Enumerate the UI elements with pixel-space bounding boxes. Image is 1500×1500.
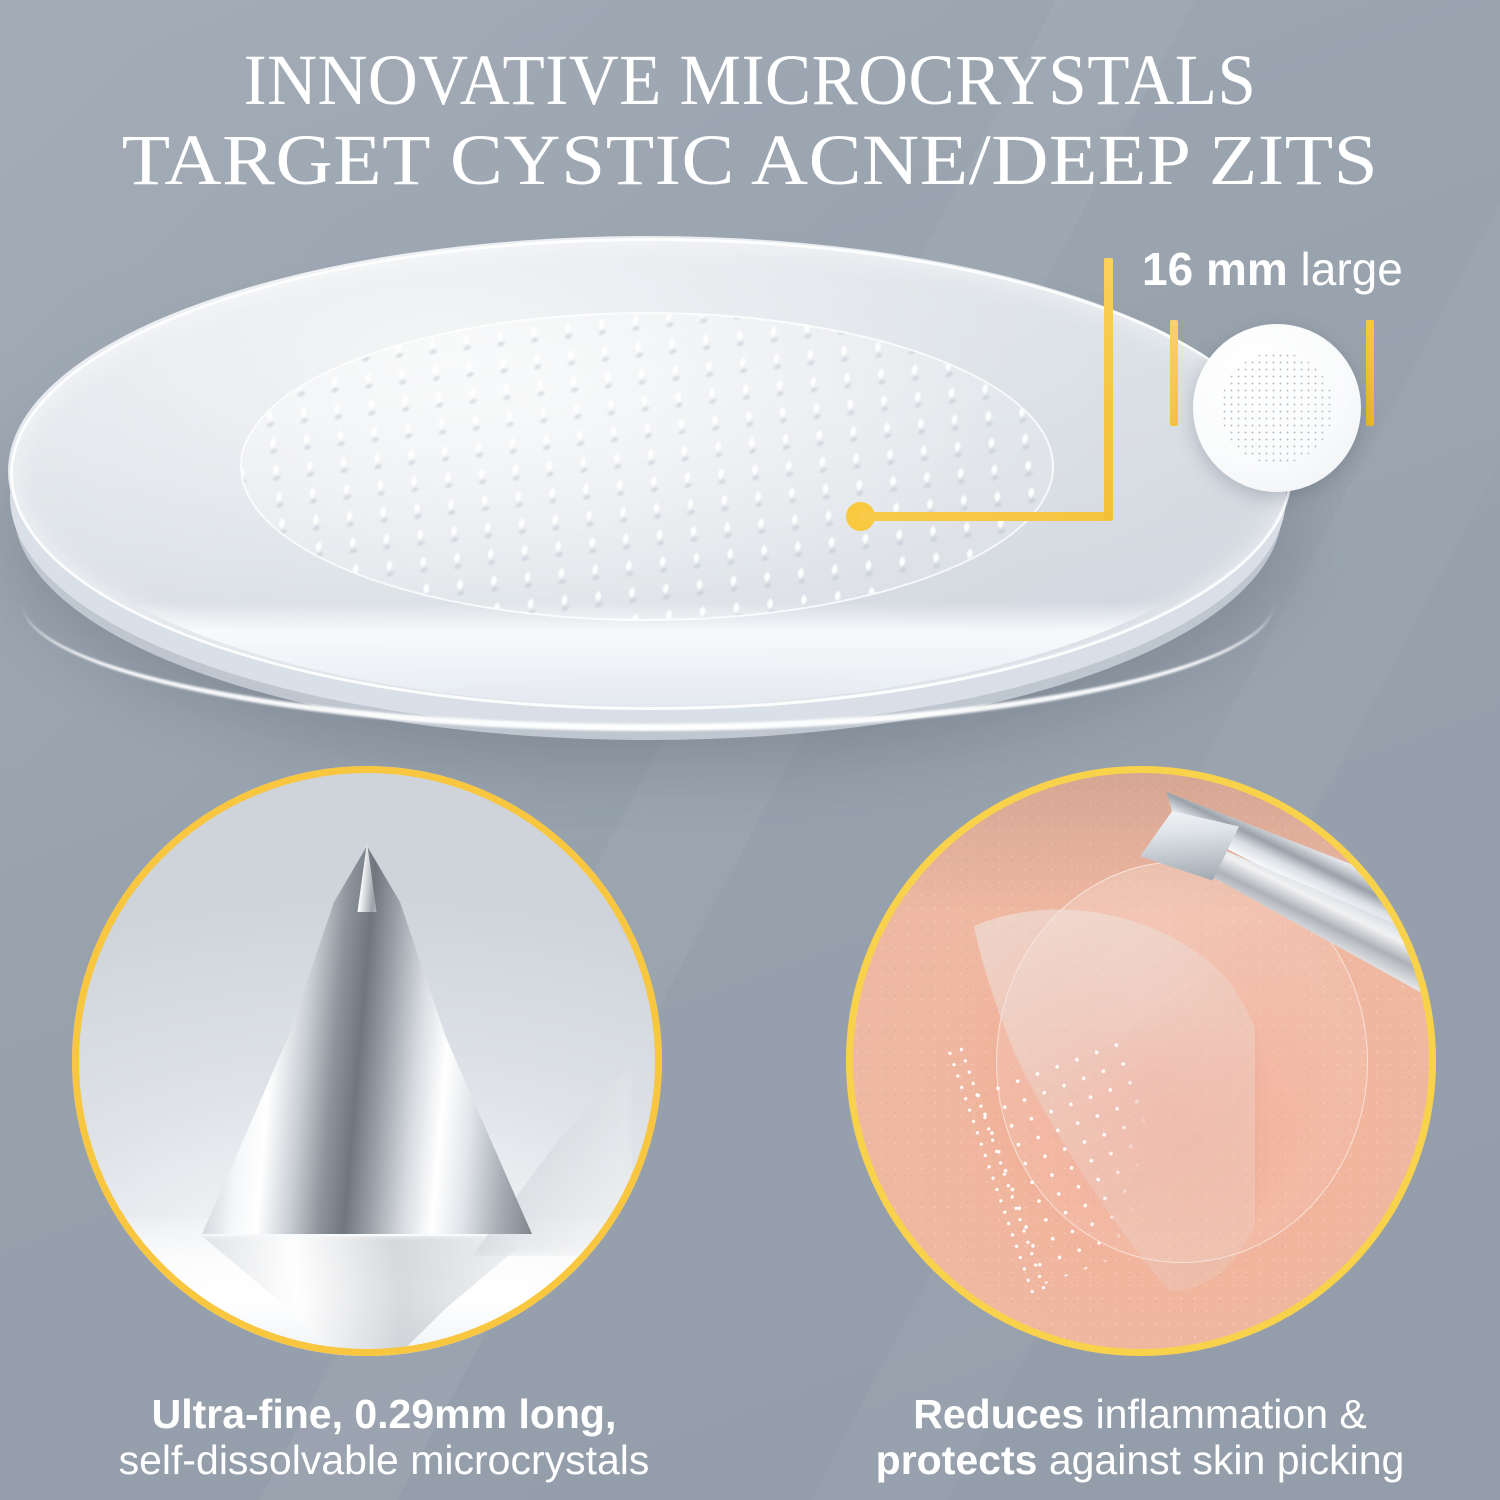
caption-left: Ultra-fine, 0.29mm long, self-dissolvabl… (34, 1392, 734, 1484)
measure-bar-left (1170, 320, 1178, 426)
leader-line-horizontal (858, 512, 1113, 521)
caption-right-line-1: Reduces inflammation & (790, 1392, 1490, 1438)
size-callout: 16 mm large (1096, 246, 1486, 526)
caption-right-word-protects: protects (876, 1437, 1038, 1483)
caption-right-text-skinpicking: against skin picking (1037, 1437, 1404, 1483)
caption-right-line-2: protects against skin picking (790, 1438, 1490, 1484)
microcrystal-field (240, 312, 1054, 621)
leader-line-vertical (1104, 258, 1113, 520)
size-suffix: large (1301, 243, 1403, 295)
inset-microneedle-closeup (72, 766, 662, 1356)
headline-line-2: TARGET CYSTIC ACNE/DEEP ZITS (0, 124, 1500, 196)
caption-left-line-2: self-dissolvable microcrystals (34, 1438, 734, 1484)
mini-patch-dot-array (1221, 352, 1333, 464)
page-title: INNOVATIVE MICROCRYSTALS TARGET CYSTIC A… (0, 44, 1500, 196)
caption-left-line-1: Ultra-fine, 0.29mm long, (34, 1392, 734, 1438)
mini-patch-illustration (1193, 324, 1361, 492)
size-value: 16 mm (1142, 243, 1288, 295)
size-callout-label: 16 mm large (1142, 246, 1403, 292)
headline-line-1: INNOVATIVE MICROCRYSTALS (30, 44, 1470, 116)
caption-right-text-inflammation: inflammation & (1084, 1391, 1367, 1437)
infographic-canvas: INNOVATIVE MICROCRYSTALS TARGET CYSTIC A… (0, 0, 1500, 1500)
measure-bar-right (1366, 320, 1374, 426)
inset-application-closeup (846, 766, 1436, 1356)
caption-right: Reduces inflammation & protects against … (790, 1392, 1490, 1484)
caption-right-word-reduces: Reduces (913, 1391, 1084, 1437)
microcrystal-cones-row-b (240, 312, 1054, 621)
